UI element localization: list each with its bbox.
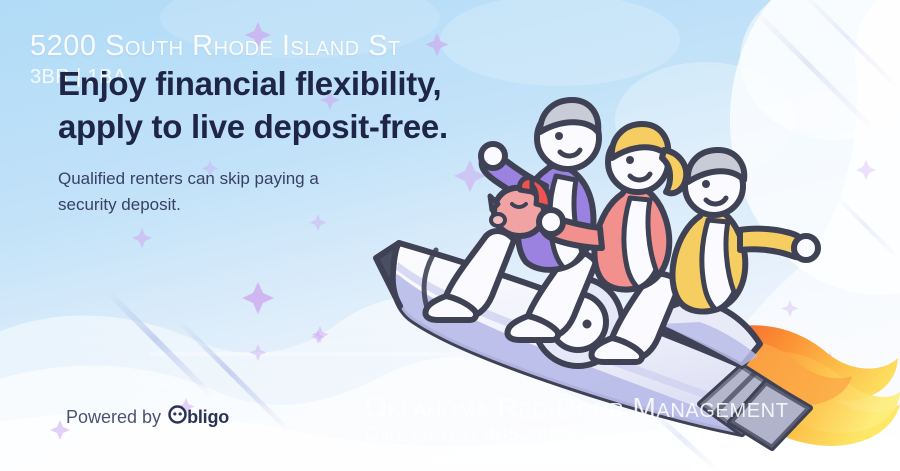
banner-canvas: 5200 South Rhode Island St 3BR | 1BA Enj… (0, 0, 900, 471)
headline-line-1: Enjoy financial flexibility, (58, 63, 448, 106)
obligo-wordmark: bligo (187, 407, 229, 428)
headline-line-2: apply to live deposit-free. (58, 106, 448, 149)
subtext-line-1: Qualified renters can skip paying a (58, 166, 319, 192)
headline: Enjoy financial flexibility, apply to li… (58, 63, 448, 149)
obligo-logo: bligo (168, 405, 229, 429)
property-address: 5200 South Rhode Island St (30, 30, 401, 63)
powered-by-obligo: Powered by bligo (66, 405, 229, 429)
contact-phone: Call or text 405.369.8905 (365, 424, 613, 447)
subtext: Qualified renters can skip paying a secu… (58, 166, 319, 219)
subtext-line-2: security deposit. (58, 192, 319, 218)
powered-by-label: Powered by (66, 407, 161, 428)
obligo-circle-face-icon (168, 405, 187, 429)
management-company-name: Oklahoma Red Door Management (365, 392, 789, 424)
